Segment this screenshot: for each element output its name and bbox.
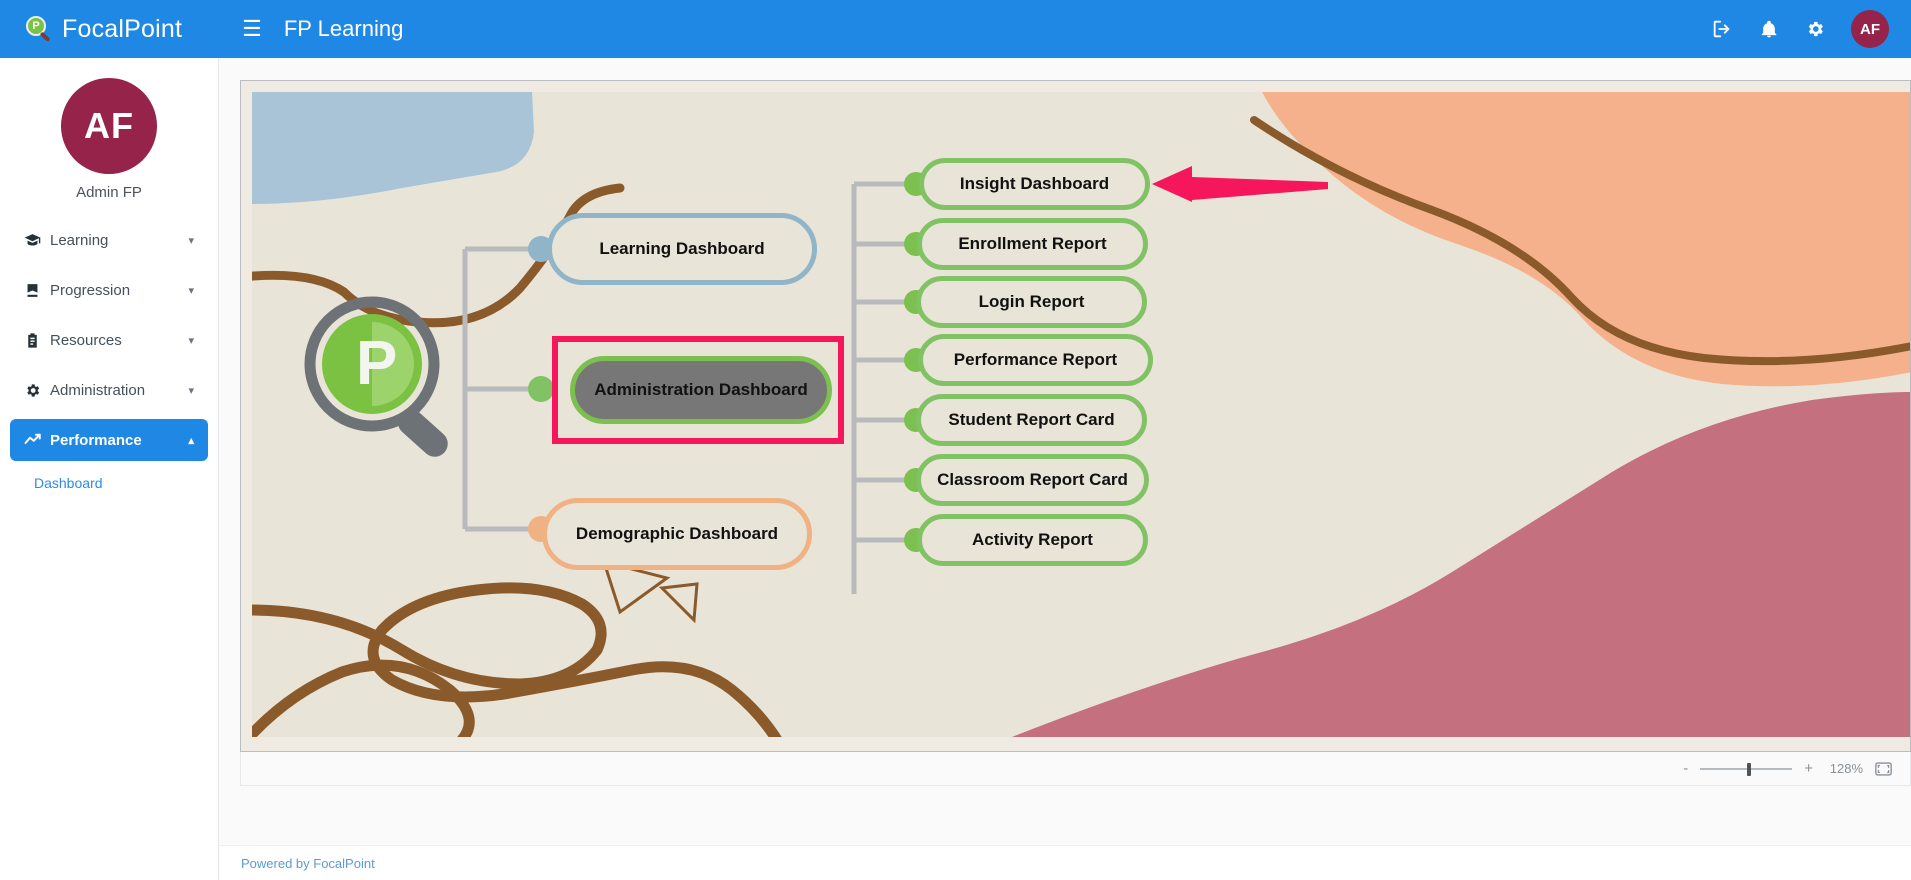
sidebar-item-label: Progression <box>50 282 188 299</box>
chevron-down-icon: ▾ <box>188 384 194 397</box>
node-enrollment-report[interactable]: Enrollment Report <box>917 218 1148 270</box>
clipboard-icon <box>24 332 50 349</box>
focalpoint-magnifier-icon: P <box>26 16 52 42</box>
node-label: Enrollment Report <box>958 234 1106 254</box>
topbar-actions: AF <box>1711 10 1889 48</box>
logout-icon[interactable] <box>1711 18 1733 40</box>
sidebar-item-label: Learning <box>50 232 188 249</box>
page-title: FP Learning <box>284 16 403 42</box>
top-navigation-bar: P FocalPoint ☰ FP Learning AF <box>0 0 1911 58</box>
main-content: P Learning Dashboard Administration Dash… <box>219 58 1911 880</box>
sidebar-item-label: Administration <box>50 382 188 399</box>
node-label: Activity Report <box>972 530 1093 550</box>
node-demographic-dashboard[interactable]: Demographic Dashboard <box>542 498 812 570</box>
node-learning-dashboard[interactable]: Learning Dashboard <box>547 213 817 285</box>
sidebar: AF Admin FP Learning ▾ Progression ▾ <box>0 58 219 880</box>
footer: Powered by FocalPoint <box>219 845 1911 880</box>
sidebar-item-resources[interactable]: Resources ▾ <box>10 319 208 361</box>
node-label: Classroom Report Card <box>937 470 1128 490</box>
diagram-slide: P Learning Dashboard Administration Dash… <box>252 92 1911 737</box>
avatar[interactable]: AF <box>61 78 157 174</box>
node-label: Administration Dashboard <box>594 380 807 400</box>
node-student-report-card[interactable]: Student Report Card <box>916 394 1147 446</box>
zoom-slider-thumb[interactable] <box>1747 763 1751 776</box>
avatar[interactable]: AF <box>1851 10 1889 48</box>
node-performance-report[interactable]: Performance Report <box>918 334 1153 386</box>
node-activity-report[interactable]: Activity Report <box>917 514 1148 566</box>
sidebar-item-progression[interactable]: Progression ▾ <box>10 269 208 311</box>
node-label: Insight Dashboard <box>960 174 1109 194</box>
node-label: Demographic Dashboard <box>576 524 778 544</box>
zoom-slider[interactable] <box>1700 762 1792 776</box>
node-insight-dashboard[interactable]: Insight Dashboard <box>919 158 1150 210</box>
brand-name: FocalPoint <box>62 15 182 44</box>
sidebar-profile: AF Admin FP <box>0 58 218 201</box>
gear-icon <box>24 382 50 399</box>
brand-logo-area[interactable]: P FocalPoint <box>26 15 182 44</box>
node-label: Performance Report <box>954 350 1117 370</box>
chevron-up-icon: ▴ <box>188 434 194 447</box>
book-icon <box>24 282 50 299</box>
zoom-slider-track <box>1700 768 1792 770</box>
sidebar-item-label: Resources <box>50 332 188 349</box>
chevron-down-icon: ▾ <box>188 334 194 347</box>
annotation-arrow-icon <box>1150 158 1330 214</box>
zoom-level-value: 128% <box>1825 761 1863 776</box>
node-dot-administration <box>528 376 554 402</box>
zoom-toolbar: - + 128% <box>240 752 1911 786</box>
logo-letter: P <box>356 329 397 398</box>
sidebar-item-administration[interactable]: Administration ▾ <box>10 369 208 411</box>
sidebar-item-performance[interactable]: Performance ▴ <box>10 419 208 461</box>
gear-icon[interactable] <box>1805 19 1825 39</box>
node-label: Student Report Card <box>948 410 1114 430</box>
powered-by-link[interactable]: Powered by FocalPoint <box>241 856 375 871</box>
fit-to-screen-icon[interactable] <box>1875 762 1892 776</box>
sidebar-item-label: Performance <box>50 432 188 449</box>
node-login-report[interactable]: Login Report <box>916 276 1147 328</box>
chevron-down-icon: ▾ <box>188 234 194 247</box>
focalpoint-magnifier-logo: P <box>294 292 484 457</box>
zoom-out-button[interactable]: - <box>1683 760 1688 777</box>
bell-icon[interactable] <box>1759 19 1779 39</box>
sidebar-item-learning[interactable]: Learning ▾ <box>10 219 208 261</box>
sidebar-nav: Learning ▾ Progression ▾ Resources ▾ <box>0 219 218 497</box>
graduation-cap-icon <box>24 232 50 249</box>
magnifier-handle <box>40 32 51 42</box>
node-administration-dashboard[interactable]: Administration Dashboard <box>570 356 832 424</box>
diagram-canvas-frame: P Learning Dashboard Administration Dash… <box>240 80 1911 752</box>
node-classroom-report-card[interactable]: Classroom Report Card <box>916 454 1149 506</box>
zoom-in-button[interactable]: + <box>1804 760 1813 777</box>
hamburger-menu-icon[interactable]: ☰ <box>242 18 262 40</box>
node-label: Learning Dashboard <box>599 239 764 259</box>
chevron-down-icon: ▾ <box>188 284 194 297</box>
trend-up-icon <box>24 431 50 449</box>
node-label: Login Report <box>979 292 1085 312</box>
profile-name: Admin FP <box>0 184 218 201</box>
sidebar-subitem-dashboard[interactable]: Dashboard <box>0 469 218 497</box>
